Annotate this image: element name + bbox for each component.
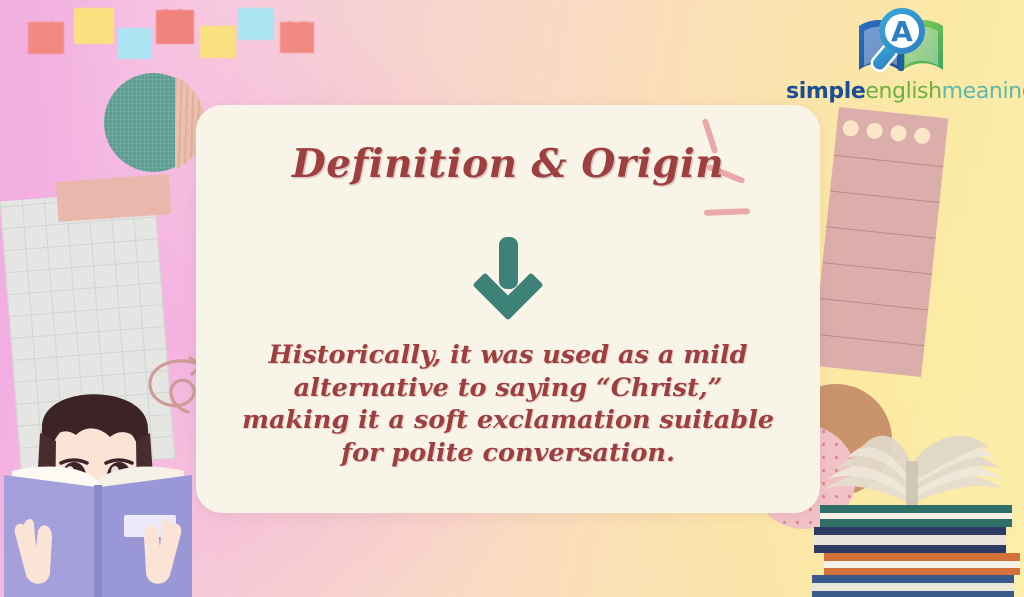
heart-icon bbox=[156, 10, 194, 44]
heart-icon bbox=[200, 26, 236, 58]
brand-word-simple: simple bbox=[786, 79, 865, 104]
brand-word-meaning: meaning bbox=[942, 79, 1024, 104]
decorative-hearts bbox=[0, 0, 300, 70]
definition-body-text: Historically, it was used as a mild alte… bbox=[236, 339, 780, 470]
heart-icon bbox=[28, 22, 64, 54]
heart-icon bbox=[238, 8, 274, 40]
girl-reading-book-illustration bbox=[0, 375, 234, 597]
down-arrow-container bbox=[196, 233, 820, 325]
heart-icon bbox=[118, 28, 152, 59]
heart-icon bbox=[280, 22, 314, 53]
brand-logo[interactable]: A simpleenglishmeaning bbox=[786, 4, 1016, 104]
pink-paper-tab bbox=[56, 174, 172, 222]
svg-text:A: A bbox=[891, 15, 913, 48]
down-arrow-icon bbox=[468, 233, 548, 325]
poster-canvas: Definition & Origin Historically, it was… bbox=[0, 0, 1024, 597]
brand-word-english: english bbox=[865, 79, 941, 104]
page-title: Definition & Origin bbox=[196, 141, 820, 187]
open-book-magnifier-a-icon: A bbox=[853, 4, 949, 78]
heart-icon bbox=[74, 8, 114, 44]
stacked-books-illustration bbox=[806, 385, 1024, 597]
definition-card: Definition & Origin Historically, it was… bbox=[196, 105, 820, 513]
brand-wordmark: simpleenglishmeaning bbox=[786, 79, 1016, 104]
